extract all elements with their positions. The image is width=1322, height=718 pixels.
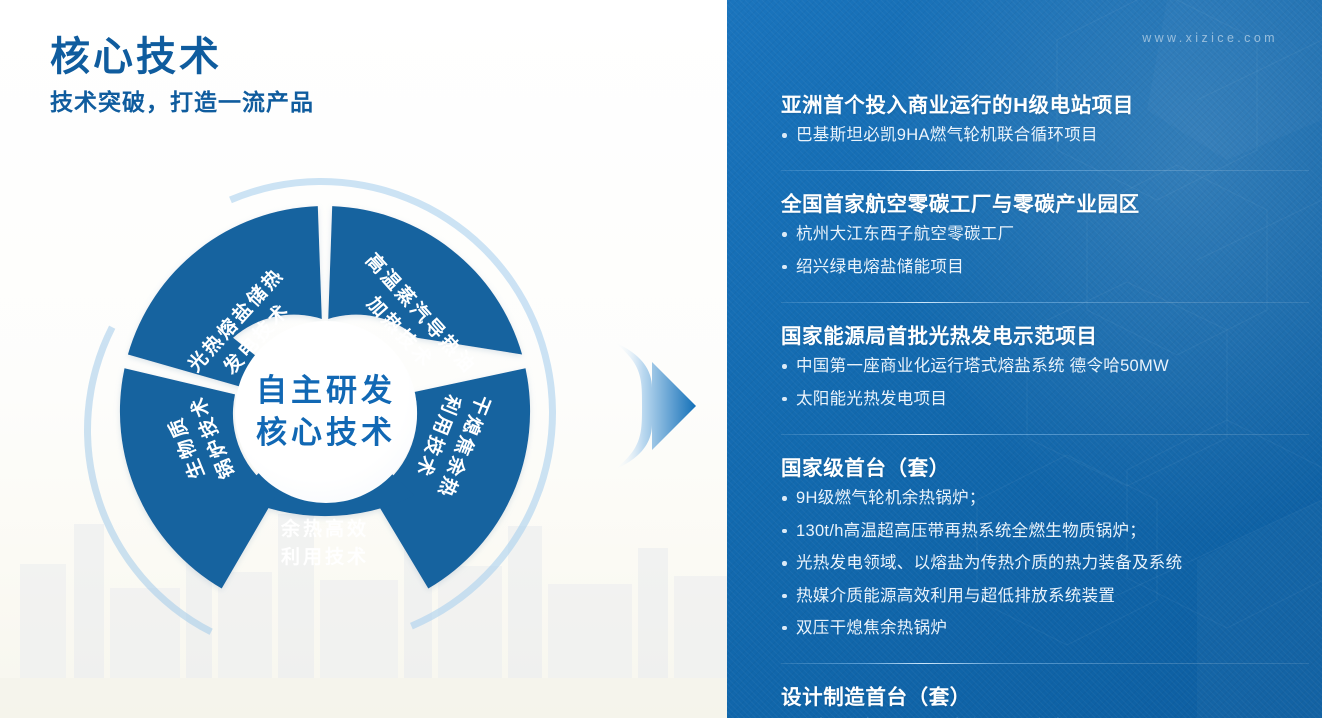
section-title: 亚洲首个投入商业运行的H级电站项目 bbox=[781, 88, 1309, 118]
section-divider bbox=[781, 170, 1309, 171]
section-items: 杭州大江东西子航空零碳工厂 绍兴绿电熔盐储能项目 bbox=[781, 224, 1309, 278]
page-subtitle: 技术突破，打造一流产品 bbox=[50, 83, 314, 117]
section-asia-h-class: 亚洲首个投入商业运行的H级电站项目 巴基斯坦必凯9HA燃气轮机联合循环项目 bbox=[781, 88, 1309, 161]
segment-label-waste-heat: 余热高效 利用技术 bbox=[238, 516, 412, 571]
section-design-first-set: 设计制造首台（套） 国内首台超高压带再热垃圾焚烧余热锅炉 bbox=[781, 680, 1309, 718]
section-title: 设计制造首台（套） bbox=[781, 680, 1309, 710]
slide-canvas: 核心技术 技术突破，打造一流产品 bbox=[0, 0, 1322, 718]
section-csp-demo: 国家能源局首批光热发电示范项目 中国第一座商业化运行塔式熔盐系统 德令哈50MW… bbox=[781, 319, 1309, 425]
achievements-list: 亚洲首个投入商业运行的H级电站项目 巴基斯坦必凯9HA燃气轮机联合循环项目 全国… bbox=[781, 88, 1309, 718]
section-zero-carbon: 全国首家航空零碳工厂与零碳产业园区 杭州大江东西子航空零碳工厂 绍兴绿电熔盐储能… bbox=[781, 187, 1309, 293]
core-line-1: 自主研发 bbox=[256, 370, 396, 412]
segment-label-waste-heat-line2: 利用技术 bbox=[238, 544, 412, 572]
list-item: 巴基斯坦必凯9HA燃气轮机联合循环项目 bbox=[781, 125, 1309, 146]
section-title: 全国首家航空零碳工厂与零碳产业园区 bbox=[781, 187, 1309, 217]
section-divider bbox=[781, 302, 1309, 303]
section-title: 国家能源局首批光热发电示范项目 bbox=[781, 319, 1309, 349]
section-items: 中国第一座商业化运行塔式熔盐系统 德令哈50MW 太阳能光热发电项目 bbox=[781, 356, 1309, 410]
list-item: 9H级燃气轮机余热锅炉； bbox=[781, 488, 1309, 509]
list-item: 130t/h高温超高压带再热系统全燃生物质锅炉； bbox=[781, 521, 1309, 542]
donut-center: 自主研发 核心技术 bbox=[235, 321, 417, 503]
left-panel: 核心技术 技术突破，打造一流产品 bbox=[0, 0, 727, 718]
page-title: 核心技术 bbox=[50, 24, 222, 82]
list-item: 太阳能光热发电项目 bbox=[781, 389, 1309, 410]
list-item: 双压干熄焦余热锅炉 bbox=[781, 618, 1309, 639]
right-panel: www.xizice.com 亚洲首个投入商业运行的H级电站项目 巴基斯坦必凯9… bbox=[727, 0, 1322, 718]
section-divider bbox=[781, 663, 1309, 664]
list-item: 光热发电领域、以熔盐为传热介质的热力装备及系统 bbox=[781, 553, 1309, 574]
section-items: 巴基斯坦必凯9HA燃气轮机联合循环项目 bbox=[781, 125, 1309, 146]
section-national-first-set: 国家级首台（套） 9H级燃气轮机余热锅炉； 130t/h高温超高压带再热系统全燃… bbox=[781, 451, 1309, 654]
segment-label-waste-heat-line1: 余热高效 bbox=[238, 516, 412, 544]
section-items: 9H级燃气轮机余热锅炉； 130t/h高温超高压带再热系统全燃生物质锅炉； 光热… bbox=[781, 488, 1309, 639]
list-item: 绍兴绿电熔盐储能项目 bbox=[781, 257, 1309, 278]
section-divider bbox=[781, 434, 1309, 435]
ground-band bbox=[0, 678, 727, 718]
right-arrow-icon bbox=[612, 336, 702, 476]
list-item: 杭州大江东西子航空零碳工厂 bbox=[781, 224, 1309, 245]
core-line-2: 核心技术 bbox=[256, 412, 396, 454]
section-title: 国家级首台（套） bbox=[781, 451, 1309, 481]
list-item: 热媒介质能源高效利用与超低排放系统装置 bbox=[781, 586, 1309, 607]
site-watermark: www.xizice.com bbox=[1142, 31, 1278, 45]
list-item: 中国第一座商业化运行塔式熔盐系统 德令哈50MW bbox=[781, 356, 1309, 377]
